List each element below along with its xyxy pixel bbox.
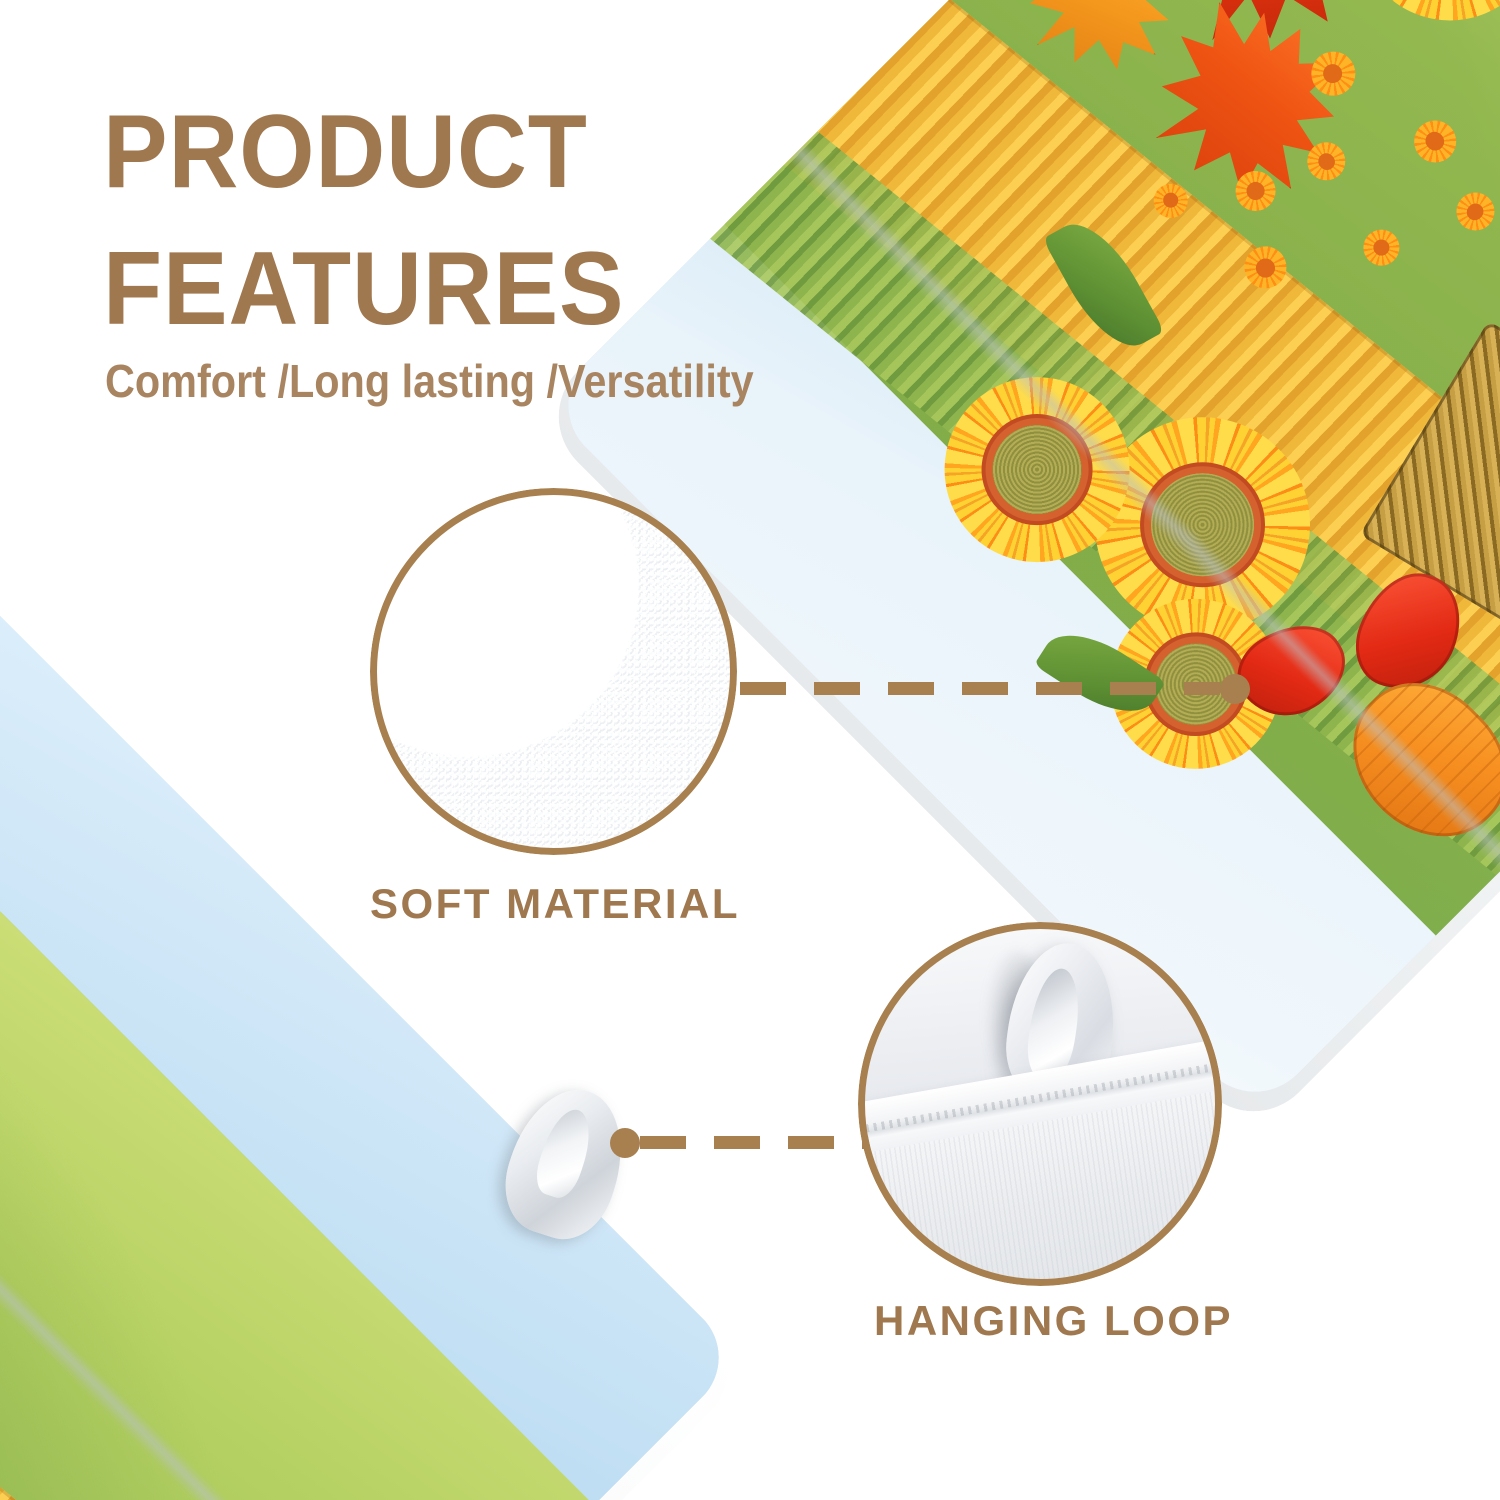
leader-endpoint-dot bbox=[1220, 674, 1250, 704]
towel-hanging-loop bbox=[491, 1075, 640, 1251]
hanging-loop-closeup-photo bbox=[865, 929, 1215, 1279]
dashed-line bbox=[740, 682, 1220, 695]
callout-hanging-loop[interactable] bbox=[858, 922, 1222, 1286]
soft-material-closeup-photo bbox=[377, 495, 730, 848]
leader-endpoint-dot bbox=[610, 1128, 640, 1158]
infographic-canvas: PRODUCT FEATURES Comfort /Long lasting /… bbox=[0, 0, 1500, 1500]
callout-label-soft-material: SOFT MATERIAL bbox=[370, 880, 740, 928]
callout-label-hanging-loop: HANGING LOOP bbox=[874, 1297, 1233, 1345]
leader-hanging-loop bbox=[610, 1136, 870, 1149]
callout-soft-material[interactable] bbox=[370, 488, 737, 855]
leader-soft-material bbox=[740, 682, 1250, 695]
dashed-line bbox=[640, 1136, 870, 1149]
page-subtitle: Comfort /Long lasting /Versatility bbox=[105, 358, 754, 404]
page-title: PRODUCT FEATURES bbox=[103, 84, 625, 359]
